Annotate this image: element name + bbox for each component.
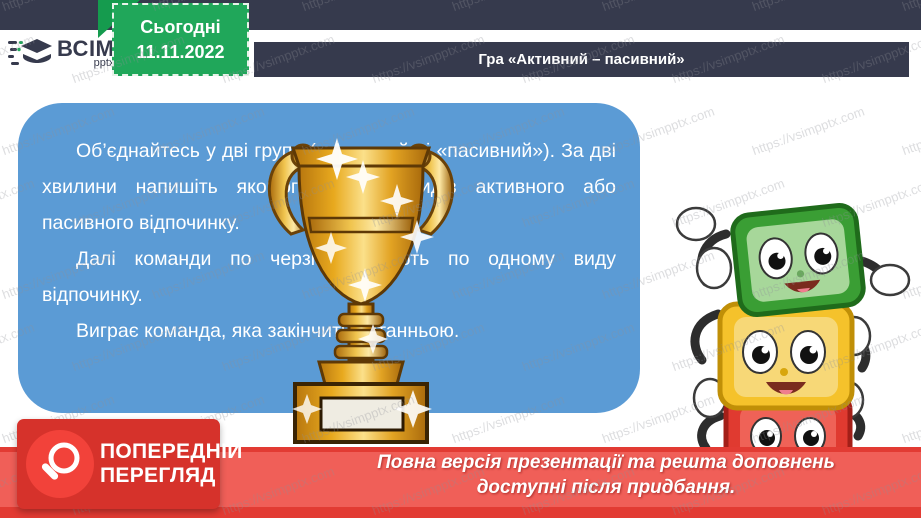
magnifier-icon [26, 430, 94, 498]
preview-badge[interactable]: ПОПЕРЕДНІЙ ПЕРЕГЛЯД [17, 419, 220, 509]
instructions-text: Об’єднайтесь у дві групи («активний» і «… [42, 133, 616, 349]
instruction-paragraph-1: Об’єднайтесь у дві групи («активний» і «… [42, 133, 616, 241]
page-title: Гра «Активний – пасивний» [478, 51, 684, 68]
preview-label-line-1: ПОПЕРЕДНІЙ [100, 440, 243, 464]
preview-badge-label: ПОПЕРЕДНІЙ ПЕРЕГЛЯД [100, 440, 243, 488]
slide-title-bar: Гра «Активний – пасивний» [254, 42, 909, 77]
date-badge-label: Сьогодні [140, 17, 220, 38]
graduation-cap-icon [8, 36, 52, 70]
watermark-text: https://vsimpptx.com [750, 103, 866, 158]
watermark-text: https://vsimpptx.com [900, 103, 921, 158]
preview-label-line-2: ПЕРЕГЛЯД [100, 464, 243, 488]
cube-mascots [648, 186, 912, 486]
promo-line-1: Повна версія презентації та решта доповн… [300, 450, 912, 475]
date-badge-value: 11.11.2022 [136, 42, 224, 63]
content-panel: Об’єднайтесь у дві групи («активний» і «… [18, 103, 640, 413]
presentation-slide: ВСІМ pptx Сьогодні 11.11.2022 Гра «Актив… [0, 0, 921, 518]
promo-band-text: Повна версія презентації та решта доповн… [300, 450, 912, 500]
brand-logo[interactable]: ВСІМ pptx [8, 36, 114, 70]
date-badge: Сьогодні 11.11.2022 [112, 3, 249, 76]
instruction-paragraph-3: Виграє команда, яка закінчить останньою. [42, 313, 616, 349]
instruction-paragraph-2: Далі команди по черзі називають по одном… [42, 241, 616, 313]
promo-line-2: доступні після придбання. [300, 475, 912, 500]
